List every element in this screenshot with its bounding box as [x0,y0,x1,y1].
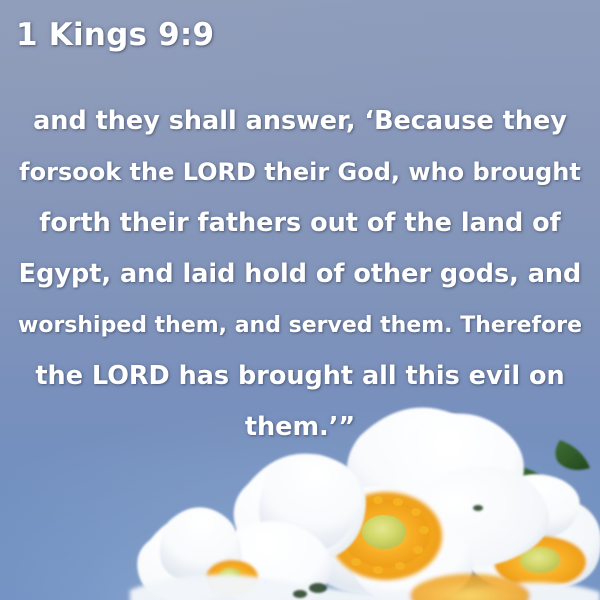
verse-line: the LORD has brought all this evil on [18,351,582,402]
verse-text-block: and they shall answer, ‘Because they for… [18,96,582,453]
verse-line: and they shall answer, ‘Because they [18,96,582,147]
verse-image-canvas: 1 Kings 9:9 and they shall answer, ‘Beca… [0,0,600,600]
verse-line: worshiped them, and served them. Therefo… [18,300,582,351]
verse-line: forth their fathers out of the land of [18,198,582,249]
verse-reference-title: 1 Kings 9:9 [16,17,214,53]
verse-line: them.’” [18,402,582,453]
verse-line: Egypt, and laid hold of other gods, and [18,249,582,300]
verse-line: forsook the LORD their God, who brought [18,147,582,198]
